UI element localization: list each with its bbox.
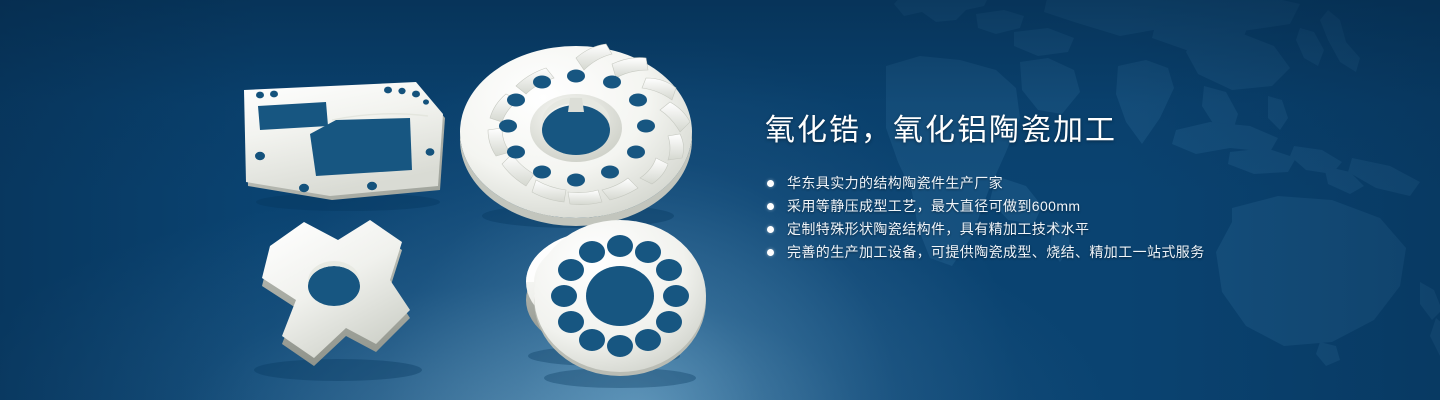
list-item: 华东具实力的结构陶瓷件生产厂家 <box>765 172 1385 195</box>
list-item-label: 采用等静压成型工艺，最大直径可做到600mm <box>787 198 1080 214</box>
product-image-group <box>230 40 710 395</box>
banner-text-column: 氧化锆，氧化铝陶瓷加工 华东具实力的结构陶瓷件生产厂家 采用等静压成型工艺，最大… <box>765 112 1385 264</box>
bullet-dot-icon <box>767 180 774 187</box>
bullet-dot-icon <box>767 203 774 210</box>
hero-banner: 氧化锆，氧化铝陶瓷加工 华东具实力的结构陶瓷件生产厂家 采用等静压成型工艺，最大… <box>0 0 1440 400</box>
list-item: 采用等静压成型工艺，最大直径可做到600mm <box>765 195 1385 218</box>
feature-list: 华东具实力的结构陶瓷件生产厂家 采用等静压成型工艺，最大直径可做到600mm 定… <box>765 172 1385 264</box>
list-item-label: 完善的生产加工设备，可提供陶瓷成型、烧结、精加工一站式服务 <box>787 244 1205 260</box>
list-item: 完善的生产加工设备，可提供陶瓷成型、烧结、精加工一站式服务 <box>765 241 1385 264</box>
page-title: 氧化锆，氧化铝陶瓷加工 <box>765 112 1385 150</box>
list-item-label: 华东具实力的结构陶瓷件生产厂家 <box>787 175 1003 191</box>
ceramic-impeller-image <box>452 40 702 230</box>
ceramic-perforated-disc-image <box>526 214 716 392</box>
list-item: 定制特殊形状陶瓷结构件，具有精加工技术水平 <box>765 218 1385 241</box>
ceramic-plate-image <box>240 82 450 212</box>
bullet-dot-icon <box>767 249 774 256</box>
ceramic-cross-part-image <box>242 218 442 388</box>
list-item-label: 定制特殊形状陶瓷结构件，具有精加工技术水平 <box>787 221 1089 237</box>
bullet-dot-icon <box>767 226 774 233</box>
